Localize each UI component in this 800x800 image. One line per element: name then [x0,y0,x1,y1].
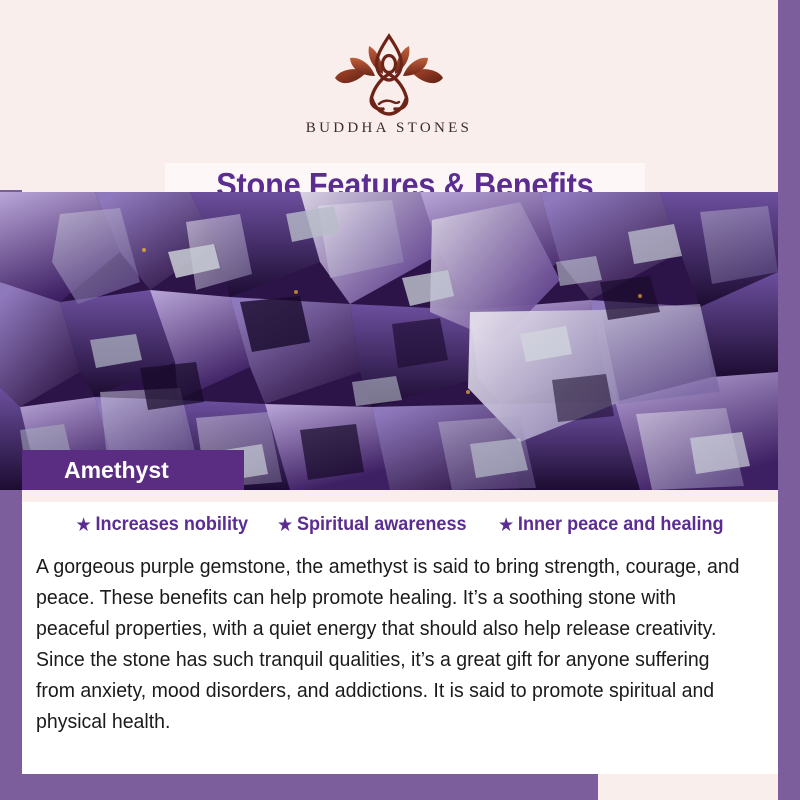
header: BUDDHA STONES Stone Features & Benefits [0,22,778,192]
crystal-cluster-graphic [0,192,778,490]
benefit-label: Inner peace and healing [518,514,724,536]
benefits-list: ★ Increases nobility ★ Spiritual awarene… [22,514,778,536]
page-surface-bottom-right [598,772,778,800]
benefit-label: Increases nobility [95,514,247,536]
stone-name-banner: Amethyst [22,450,244,490]
frame-band-bottom [0,774,598,800]
lotus-meditation-icon [313,30,465,118]
stone-name: Amethyst [64,457,169,484]
amethyst-photo [0,192,778,490]
benefit-label: Spiritual awareness [297,514,467,536]
benefit-item-1: ★ Increases nobility [75,514,247,536]
benefit-item-2: ★ Spiritual awareness [277,514,467,536]
benefit-item-3: ★ Inner peace and healing [498,514,724,536]
content-panel: ★ Increases nobility ★ Spiritual awarene… [22,502,778,774]
star-icon: ★ [498,516,514,535]
brand-logo: BUDDHA STONES [0,30,778,137]
star-icon: ★ [277,516,293,535]
description-paragraph: A gorgeous purple gemstone, the amethyst… [36,552,748,738]
poster-root: BUDDHA STONES Stone Features & Benefits [0,0,800,800]
frame-band-right [778,0,800,800]
star-icon: ★ [75,516,91,535]
brand-name: BUDDHA STONES [306,120,472,137]
